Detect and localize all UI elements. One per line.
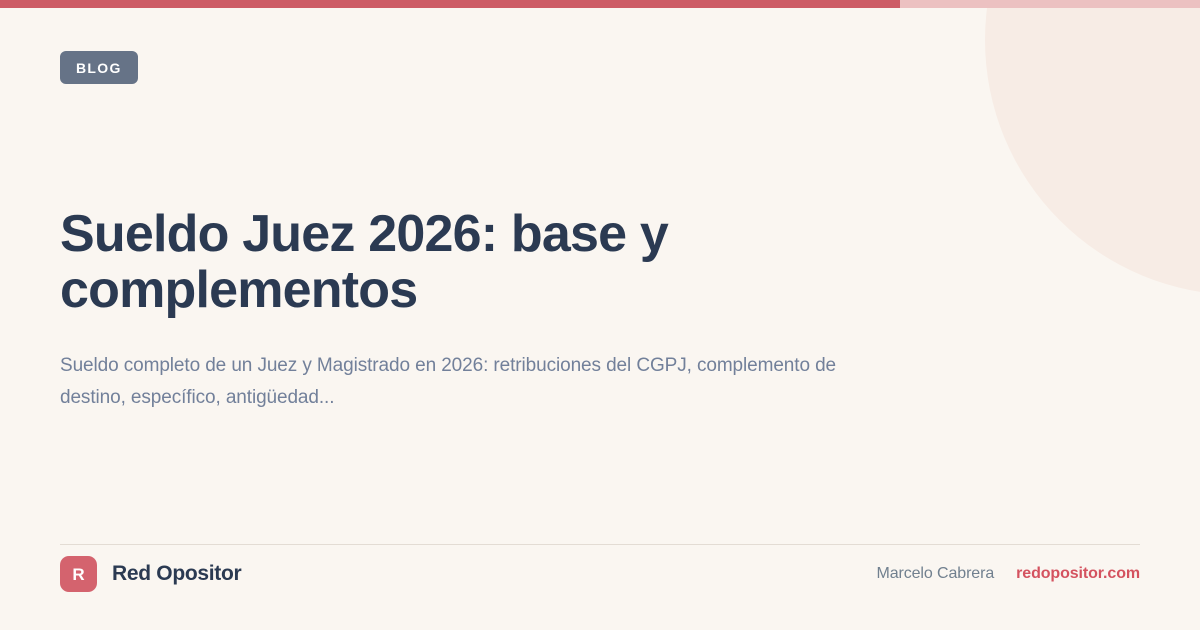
page-title: Sueldo Juez 2026: base y complementos <box>60 207 820 318</box>
page-subtitle: Sueldo completo de un Juez y Magistrado … <box>60 350 860 414</box>
brand-block[interactable]: R Red Opositor <box>60 556 241 592</box>
brand-logo-icon: R <box>60 556 97 592</box>
card-content: BLOG Sueldo Juez 2026: base y complement… <box>0 0 1200 630</box>
brand-name: Red Opositor <box>112 562 241 586</box>
category-badge[interactable]: BLOG <box>60 51 138 84</box>
social-share-card: BLOG Sueldo Juez 2026: base y complement… <box>0 0 1200 630</box>
author-name: Marcelo Cabrera <box>876 565 994 583</box>
footer-divider <box>60 544 1140 545</box>
site-url-link[interactable]: redopositor.com <box>1016 565 1140 583</box>
footer-meta: Marcelo Cabrera redopositor.com <box>876 565 1140 583</box>
card-footer: R Red Opositor Marcelo Cabrera redoposit… <box>60 554 1140 594</box>
